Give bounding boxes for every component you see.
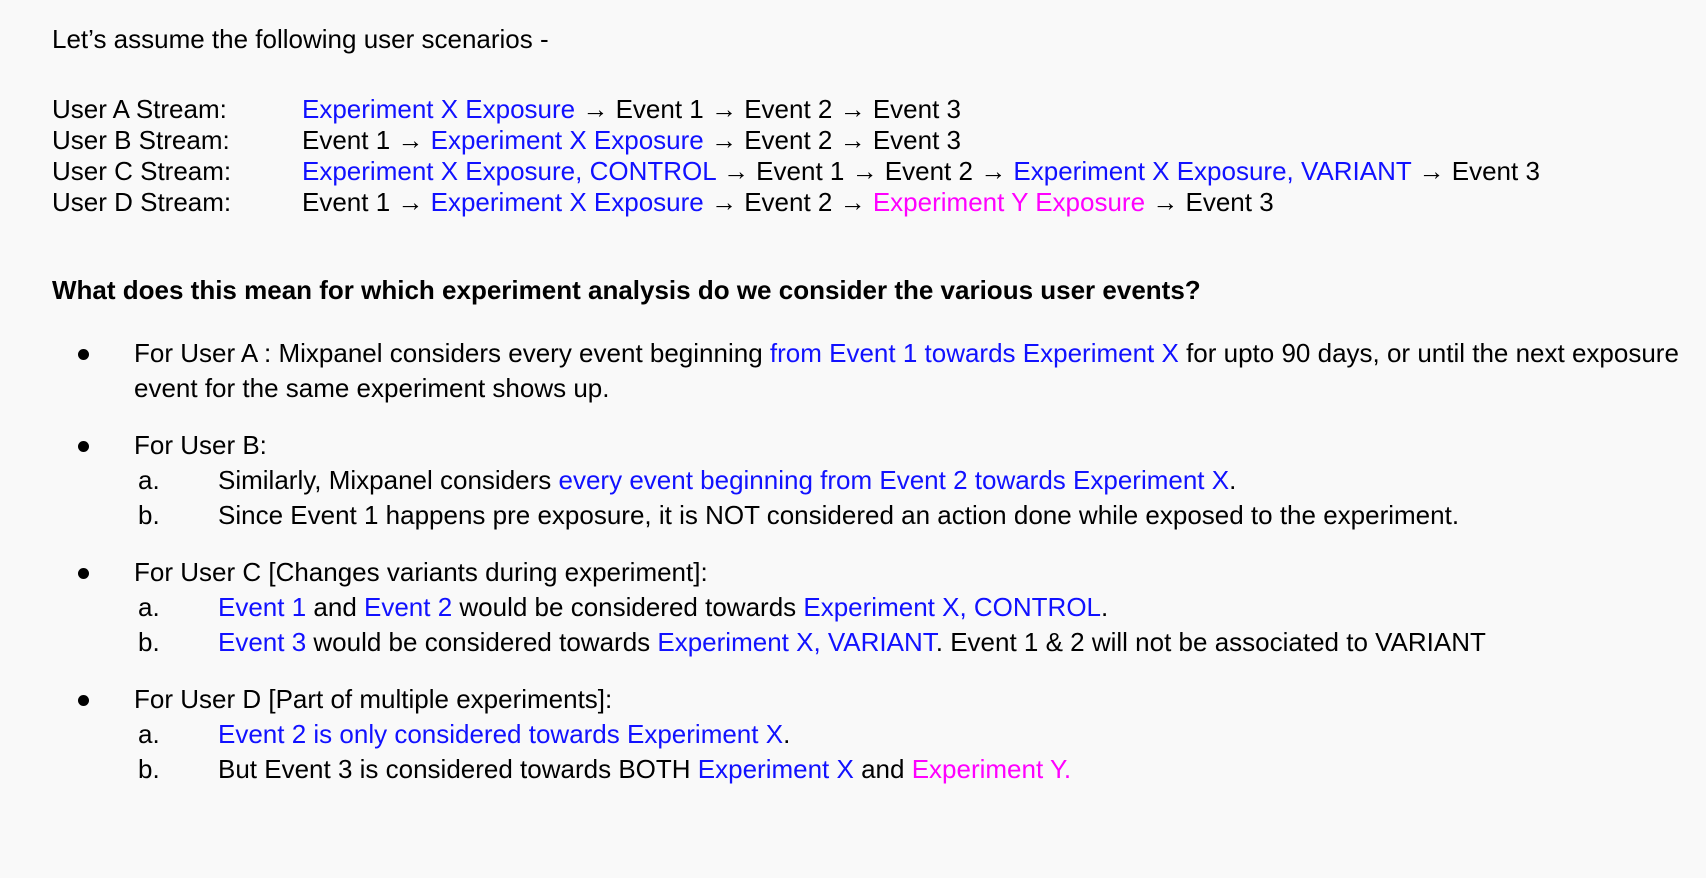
- stream-3-segment-4: → Event 3: [1145, 187, 1274, 217]
- bullet-item: For User A : Mixpanel considers every ev…: [0, 336, 1706, 406]
- bullet-text: For User A : Mixpanel considers every ev…: [134, 336, 1706, 406]
- stream-label: User B Stream:: [0, 125, 302, 156]
- stream-3-segment-3: Experiment Y Exposure: [873, 187, 1145, 217]
- sub-bullet-text: Similarly, Mixpanel considers every even…: [218, 465, 1236, 495]
- sub-bullet-marker: b.: [138, 625, 178, 660]
- bullet-2-sub-1-segment-0: Event 3: [218, 627, 306, 657]
- stream-2-segment-2: Experiment X Exposure, VARIANT: [1013, 156, 1411, 186]
- stream-label: User A Stream:: [0, 94, 302, 125]
- sub-bullet-marker: b.: [138, 498, 178, 533]
- bullet-1-sub-1-segment-0: Since Event 1 happens pre exposure, it i…: [218, 500, 1459, 530]
- bullet-dot-icon: [78, 349, 89, 360]
- bullet-dot-icon: [78, 568, 89, 579]
- bullet-2-sub-0-segment-4: Experiment X, CONTROL: [803, 592, 1101, 622]
- sub-bullet-list: a.Similarly, Mixpanel considers every ev…: [134, 463, 1706, 533]
- sub-bullet-list: a.Event 1 and Event 2 would be considere…: [134, 590, 1706, 660]
- stream-value: Event 1 → Experiment X Exposure → Event …: [302, 125, 1540, 156]
- bullet-2-sub-1-segment-2: Experiment X, VARIANT: [657, 627, 935, 657]
- bullet-3-sub-1-segment-1: Experiment X: [698, 754, 854, 784]
- intro-paragraph: Let’s assume the following user scenario…: [52, 22, 1706, 56]
- sub-bullet-item: a.Event 1 and Event 2 would be considere…: [134, 590, 1706, 625]
- bullet-1-segment-0: For User B:: [134, 430, 267, 460]
- stream-label: User C Stream:: [0, 156, 302, 187]
- stream-value: Experiment X Exposure, CONTROL → Event 1…: [302, 156, 1540, 187]
- bullet-1-sub-0-segment-1: every event beginning from Event 2 towar…: [559, 465, 1230, 495]
- stream-3-segment-1: Experiment X Exposure: [431, 187, 704, 217]
- bullet-3-sub-0-segment-1: .: [783, 719, 790, 749]
- stream-1-segment-0: Event 1 →: [302, 125, 431, 155]
- bullet-2-sub-1-segment-1: would be considered towards: [306, 627, 657, 657]
- stream-2-segment-3: → Event 3: [1411, 156, 1540, 186]
- sub-bullet-list: a.Event 2 is only considered towards Exp…: [134, 717, 1706, 787]
- question-heading: What does this mean for which experiment…: [52, 274, 1706, 306]
- sub-bullet-marker: a.: [138, 463, 178, 498]
- bullet-2-sub-1-segment-3: . Event 1 & 2 will not be associated to …: [936, 627, 1486, 657]
- stream-1-segment-1: Experiment X Exposure: [431, 125, 704, 155]
- bullet-2-segment-0: For User C [Changes variants during expe…: [134, 557, 708, 587]
- sub-bullet-item: b.But Event 3 is considered towards BOTH…: [134, 752, 1706, 787]
- bullet-3-sub-1-segment-2: and: [854, 754, 912, 784]
- bullet-item: For User D [Part of multiple experiments…: [0, 682, 1706, 787]
- bullet-1-sub-0-segment-2: .: [1229, 465, 1236, 495]
- user-streams-body: User A Stream:Experiment X Exposure → Ev…: [0, 94, 1540, 218]
- bullet-2-sub-0-segment-3: would be considered towards: [452, 592, 803, 622]
- sub-bullet-marker: a.: [138, 717, 178, 752]
- sub-bullet-marker: a.: [138, 590, 178, 625]
- bullet-text: For User D [Part of multiple experiments…: [134, 682, 1706, 717]
- bullet-2-sub-0-segment-1: and: [306, 592, 364, 622]
- sub-bullet-text: Event 3 would be considered towards Expe…: [218, 627, 1486, 657]
- stream-row: User B Stream:Event 1 → Experiment X Exp…: [0, 125, 1540, 156]
- sub-bullet-text: But Event 3 is considered towards BOTH E…: [218, 754, 1071, 784]
- bullet-2-sub-0-segment-0: Event 1: [218, 592, 306, 622]
- stream-2-segment-1: → Event 1 → Event 2 →: [716, 156, 1014, 186]
- user-streams-table: User A Stream:Experiment X Exposure → Ev…: [0, 94, 1540, 218]
- stream-row: User C Stream:Experiment X Exposure, CON…: [0, 156, 1540, 187]
- stream-row: User A Stream:Experiment X Exposure → Ev…: [0, 94, 1540, 125]
- bullet-3-segment-0: For User D [Part of multiple experiments…: [134, 684, 612, 714]
- document-page: Let’s assume the following user scenario…: [0, 0, 1706, 878]
- bullet-0-segment-1: from Event 1 towards Experiment X: [770, 338, 1179, 368]
- bullet-3-sub-1-segment-0: But Event 3 is considered towards BOTH: [218, 754, 698, 784]
- bullet-0-segment-0: For User A : Mixpanel considers every ev…: [134, 338, 770, 368]
- bullet-1-sub-0-segment-0: Similarly, Mixpanel considers: [218, 465, 559, 495]
- stream-value: Experiment X Exposure → Event 1 → Event …: [302, 94, 1540, 125]
- stream-0-segment-1: → Event 1 → Event 2 → Event 3: [575, 94, 961, 124]
- bullet-dot-icon: [78, 695, 89, 706]
- stream-value: Event 1 → Experiment X Exposure → Event …: [302, 187, 1540, 218]
- sub-bullet-text: Since Event 1 happens pre exposure, it i…: [218, 500, 1459, 530]
- bullet-2-sub-0-segment-5: .: [1101, 592, 1108, 622]
- sub-bullet-text: Event 2 is only considered towards Exper…: [218, 719, 790, 749]
- stream-1-segment-2: → Event 2 → Event 3: [704, 125, 961, 155]
- bullet-item: For User B:a.Similarly, Mixpanel conside…: [0, 428, 1706, 533]
- stream-row: User D Stream:Event 1 → Experiment X Exp…: [0, 187, 1540, 218]
- bullet-3-sub-1-segment-3: Experiment Y.: [912, 754, 1071, 784]
- stream-3-segment-0: Event 1 →: [302, 187, 431, 217]
- sub-bullet-item: b.Since Event 1 happens pre exposure, it…: [134, 498, 1706, 533]
- sub-bullet-text: Event 1 and Event 2 would be considered …: [218, 592, 1108, 622]
- bullet-text: For User C [Changes variants during expe…: [134, 555, 1706, 590]
- bullet-2-sub-0-segment-2: Event 2: [364, 592, 452, 622]
- stream-0-segment-0: Experiment X Exposure: [302, 94, 575, 124]
- bullet-3-sub-0-segment-0: Event 2 is only considered towards Exper…: [218, 719, 783, 749]
- sub-bullet-item: a.Similarly, Mixpanel considers every ev…: [134, 463, 1706, 498]
- bullet-text: For User B:: [134, 428, 1706, 463]
- stream-3-segment-2: → Event 2 →: [704, 187, 873, 217]
- bullet-dot-icon: [78, 441, 89, 452]
- stream-2-segment-0: Experiment X Exposure, CONTROL: [302, 156, 716, 186]
- bullet-item: For User C [Changes variants during expe…: [0, 555, 1706, 660]
- sub-bullet-marker: b.: [138, 752, 178, 787]
- sub-bullet-item: a.Event 2 is only considered towards Exp…: [134, 717, 1706, 752]
- explanation-bullet-list: For User A : Mixpanel considers every ev…: [0, 336, 1706, 787]
- sub-bullet-item: b.Event 3 would be considered towards Ex…: [134, 625, 1706, 660]
- stream-label: User D Stream:: [0, 187, 302, 218]
